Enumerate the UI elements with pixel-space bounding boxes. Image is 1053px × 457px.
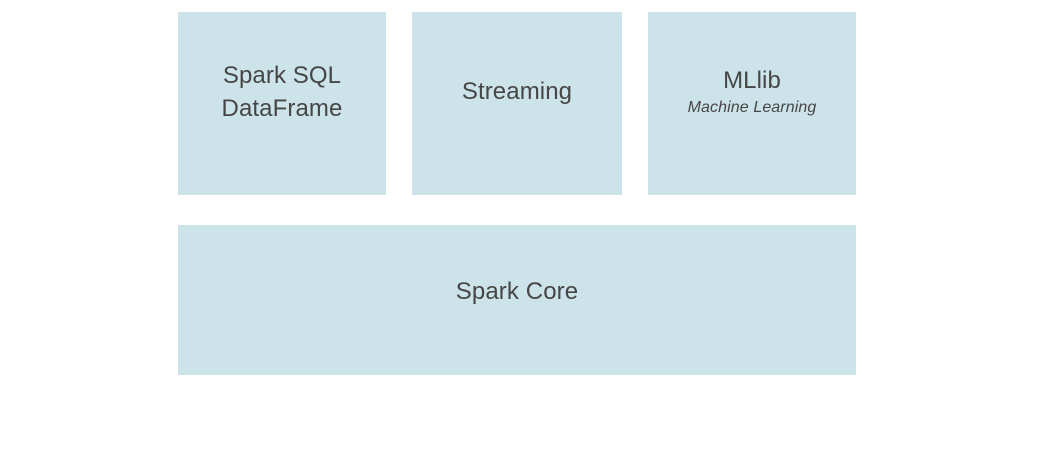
block-title: Spark SQL DataFrame: [222, 59, 343, 125]
block-subtitle: Machine Learning: [688, 97, 817, 119]
block-title: Streaming: [462, 75, 572, 108]
diagram-block-streaming: Streaming: [412, 12, 622, 195]
diagram-canvas: Spark SQL DataFrame Streaming MLlib Mach…: [0, 0, 1053, 457]
block-title: Spark Core: [456, 275, 578, 308]
diagram-block-spark-core: Spark Core: [178, 225, 856, 375]
diagram-block-mllib: MLlib Machine Learning: [648, 12, 856, 195]
diagram-block-spark-sql: Spark SQL DataFrame: [178, 12, 386, 195]
block-title: MLlib: [723, 64, 781, 97]
